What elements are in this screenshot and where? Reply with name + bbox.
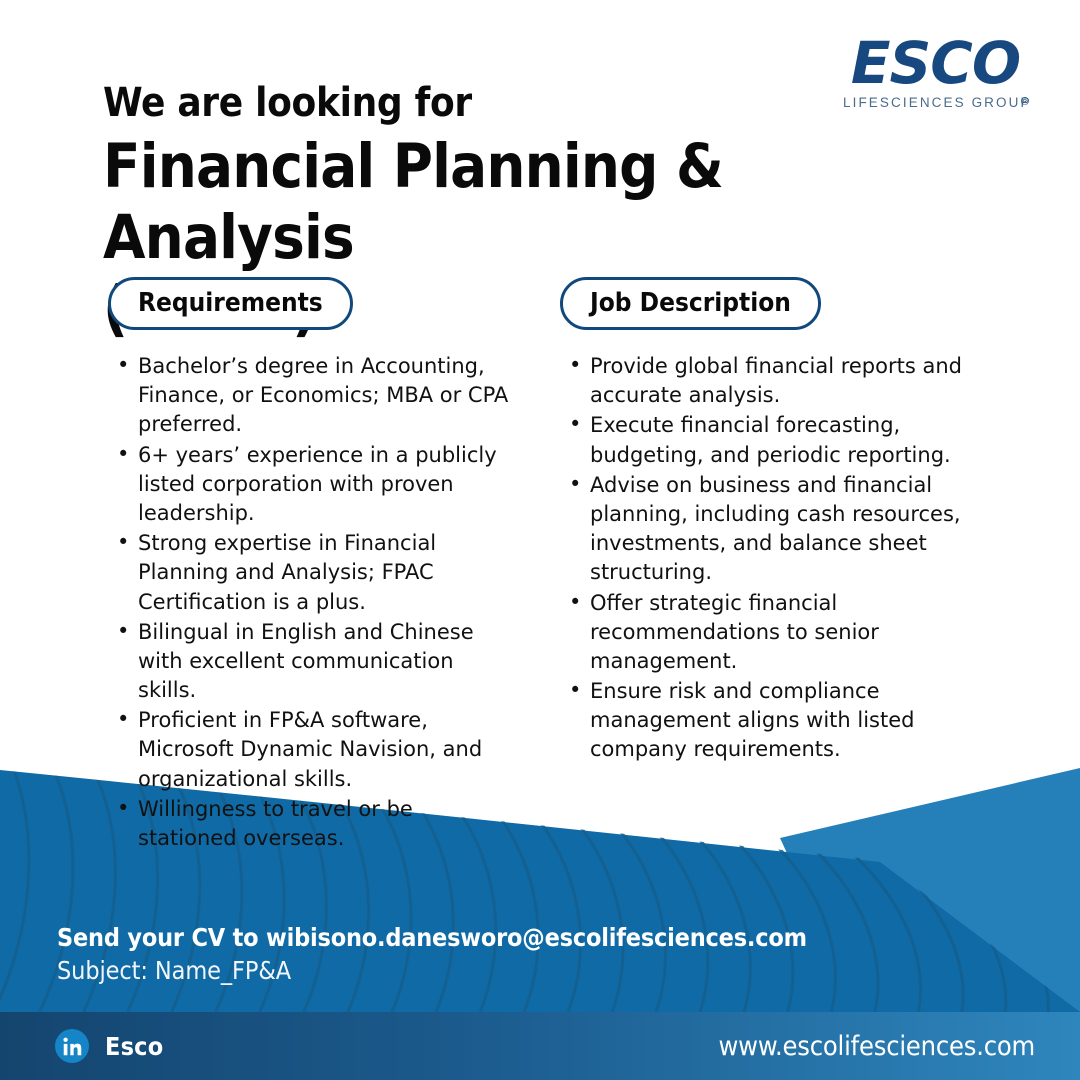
list-item: Advise on business and financial plannin…: [560, 471, 970, 588]
contact-block: Send your CV to wibisono.danesworo@escol…: [57, 923, 957, 986]
linkedin-link[interactable]: Esco: [55, 1029, 163, 1063]
list-item: Ensure risk and compliance management al…: [560, 677, 970, 765]
requirements-list: Bachelor’s degree in Accounting, Finance…: [108, 352, 518, 853]
list-item: Willingness to travel or be stationed ov…: [108, 795, 518, 853]
social-label: Esco: [105, 1032, 163, 1061]
list-item: 6+ years’ experience in a publicly liste…: [108, 441, 518, 529]
job-description-pill: Job Description: [560, 277, 821, 330]
linkedin-icon[interactable]: [55, 1029, 89, 1063]
send-cv-line: Send your CV to wibisono.danesworo@escol…: [57, 923, 957, 953]
content-columns: Requirements Bachelor’s degree in Accoun…: [0, 277, 1080, 854]
subject-line: Subject: Name_FP&A: [57, 956, 957, 986]
kicker-text: We are looking for: [103, 82, 983, 124]
job-posting-poster: ESCO ® LIFESCIENCES GROUP We are looking…: [0, 0, 1080, 1080]
list-item: Offer strategic financial recommendation…: [560, 589, 970, 677]
footer-bar: Esco www.escolifesciences.com: [0, 1012, 1080, 1080]
job-description-list: Provide global financial reports and acc…: [560, 352, 970, 765]
requirements-column: Requirements Bachelor’s degree in Accoun…: [0, 277, 560, 854]
list-item: Proficient in FP&A software, Microsoft D…: [108, 706, 518, 794]
list-item: Bachelor’s degree in Accounting, Finance…: [108, 352, 518, 440]
website-url[interactable]: www.escolifesciences.com: [718, 1031, 1035, 1062]
list-item: Strong expertise in Financial Planning a…: [108, 529, 518, 617]
registered-trademark-icon: ®: [1021, 96, 1029, 108]
list-item: Bilingual in English and Chinese with ex…: [108, 618, 518, 706]
list-item: Provide global financial reports and acc…: [560, 352, 970, 410]
list-item: Execute financial forecasting, budgeting…: [560, 411, 970, 469]
